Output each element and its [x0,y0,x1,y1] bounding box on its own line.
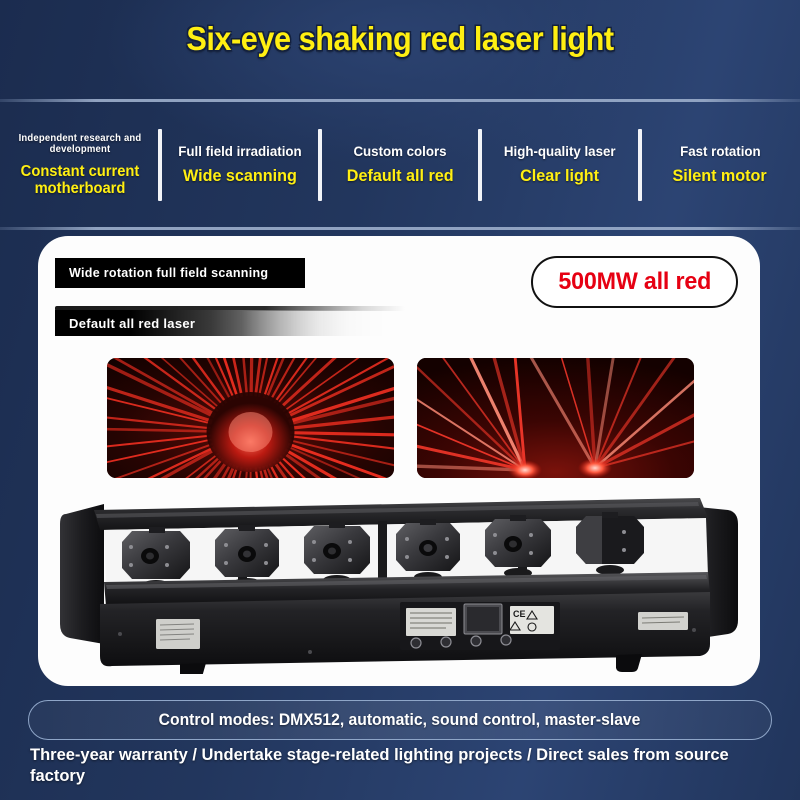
header: Six-eye shaking red laser light [0,0,800,100]
feature-item-4: High-quality laser Clear light [480,103,640,227]
control-modes-box: Control modes: DMX512, automatic, sound … [28,700,772,740]
laser-photo-radial [107,358,394,478]
divider-bottom [0,227,800,230]
feature-bar: Independent research and development Con… [0,103,800,227]
feature-4-value: Clear light [521,167,600,186]
fan-beams-icon [417,358,694,478]
feature-item-1: Independent research and development Con… [0,103,160,227]
feature-item-5: Fast rotation Silent motor [640,103,800,227]
control-modes-label: Control modes: DMX512, automatic, sound … [159,711,641,730]
laser-bar-illustration: CE [60,484,738,674]
feature-2-value: Wide scanning [183,167,297,186]
badge-wide-rotation: Wide rotation full field scanning [55,258,305,288]
feature-item-2: Full field irradiation Wide scanning [160,103,320,227]
control-panel: CE [400,602,560,650]
feature-item-3: Custom colors Default all red [320,103,480,227]
badge-default-all-red: Default all red laser [55,310,395,336]
feature-3-value: Default all red [347,167,454,186]
footer-note: Three-year warranty / Undertake stage-re… [30,745,772,787]
feature-2-heading: Full field irradiation [178,144,301,160]
radial-beams-icon [107,358,394,478]
feature-3-heading: Custom colors [353,144,446,160]
feature-1-heading: Independent research and development [8,133,152,155]
feature-5-value: Silent motor [673,167,767,186]
svg-text:CE: CE [513,609,526,619]
feature-1-value: Constant current motherboard [8,163,152,197]
feature-5-heading: Fast rotation [680,144,761,160]
divider-top [0,99,800,102]
advertisement-banner: Six-eye shaking red laser light Independ… [0,0,800,800]
feature-4-heading: High-quality laser [504,144,616,160]
badge-power-rating: 500MW all red [531,256,738,308]
badge-power-label: 500MW all red [558,268,711,296]
product-image: CE [60,484,738,674]
laser-photo-fan [417,358,694,478]
page-title: Six-eye shaking red laser light [28,20,772,58]
product-panel: Wide rotation full field scanning Defaul… [38,236,760,686]
